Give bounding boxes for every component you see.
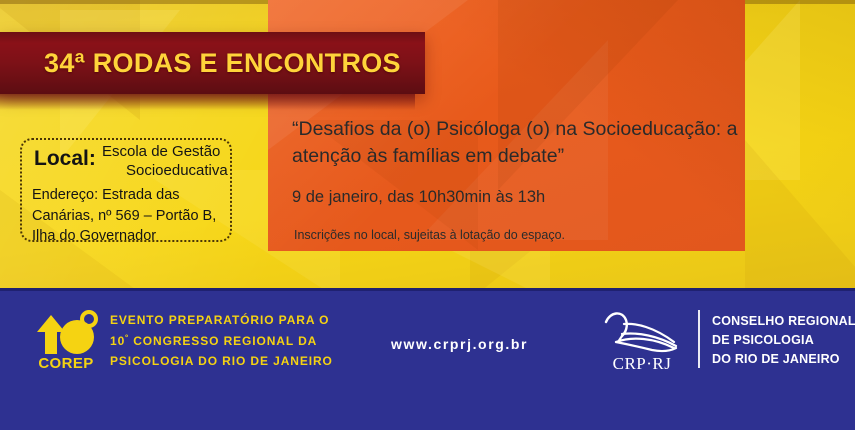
council-name: CONSELHO REGIONAL DE PSICOLOGIA DO RIO D… (712, 312, 855, 369)
event-poster: 34ª RODAS E ENCONTROS Local: Escola de G… (0, 0, 855, 430)
event-title: 34ª RODAS E ENCONTROS (44, 48, 424, 79)
venue-name-line1: Escola de Gestão (102, 143, 220, 162)
congress-label: CONGRESSO REGIONAL DA (129, 334, 317, 348)
logo-divider (698, 310, 700, 368)
council-line-2: DE PSICOLOGIA (712, 331, 855, 350)
council-line-3: DO RIO DE JANEIRO (712, 350, 855, 369)
session-theme-title: “Desafios da (o) Psicóloga (o) na Socioe… (292, 116, 742, 170)
background-polygon (745, 140, 855, 290)
preparatory-line-3: PSICOLOGIA DO RIO DE JANEIRO (110, 351, 360, 372)
registration-note: Inscrições no local, sujeitas à lotação … (294, 228, 744, 242)
footer-top-edge (0, 288, 855, 291)
title-banner-shadow (0, 94, 415, 110)
corep-logo: COREP (33, 310, 99, 372)
footer-bar: COREP EVENTO PREPARATÓRIO PARA O 10º CON… (0, 288, 855, 430)
preparatory-line-1: EVENTO PREPARATÓRIO PARA O (110, 310, 360, 331)
preparatory-event-text: EVENTO PREPARATÓRIO PARA O 10º CONGRESSO… (110, 310, 360, 372)
council-line-1: CONSELHO REGIONAL (712, 312, 855, 331)
preparatory-line-2: 10º CONGRESSO REGIONAL DA (110, 331, 360, 352)
crp-rj-logo: CRP·RJ (596, 308, 688, 374)
venue-address: Endereço: Estrada das Canárias, nº 569 –… (32, 185, 232, 247)
venue-name-line2: Socioeducativa (126, 162, 228, 181)
website-url[interactable]: www.crprj.org.br (391, 336, 528, 352)
crp-rj-wordmark: CRP·RJ (596, 354, 688, 374)
crp-bird-book-icon (596, 308, 688, 358)
session-datetime: 9 de janeiro, das 10h30min às 13h (292, 188, 742, 207)
venue-label: Local: (34, 148, 96, 169)
corep-wordmark: COREP (33, 355, 99, 372)
congress-number: 10 (110, 334, 125, 348)
corep-mark-icon (33, 310, 99, 358)
venue-info-box: Local: Escola de Gestão Socioeducativa E… (20, 138, 232, 242)
